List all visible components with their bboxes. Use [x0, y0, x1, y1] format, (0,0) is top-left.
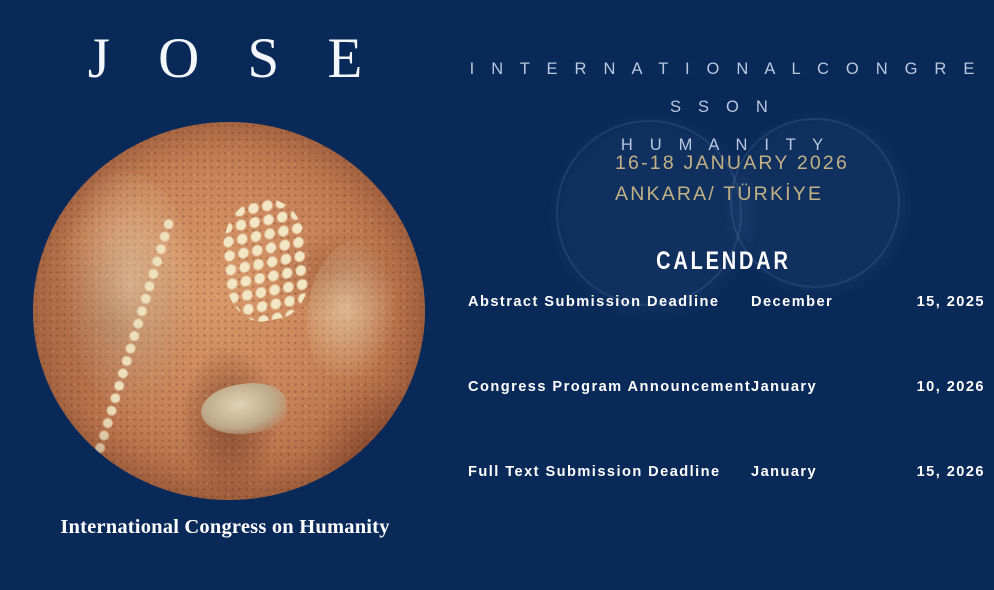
congress-title: I N T E R N A T I O N A L C O N G R E S …: [450, 50, 994, 164]
brand-wordmark: J O S E: [0, 30, 450, 87]
event-datetime: 16-18 JANUARY 2026 ANKARA/ TÜRKİYE: [615, 148, 994, 210]
congress-title-line1: I N T E R N A T I O N A L C O N G R E S …: [470, 60, 981, 116]
congress-poster: J O S E International Congress on Humani…: [0, 0, 994, 590]
calendar-event-label: Full Text Submission Deadline: [468, 458, 768, 487]
calendar-day-year-value: 15, 2026: [825, 458, 985, 487]
emblem-caption: International Congress on Humanity: [0, 516, 450, 539]
calendar-event-label: Congress Program Announcement: [468, 373, 768, 402]
table-row: Abstract Submission Deadline December 15…: [468, 288, 988, 373]
medallion-vignette: [33, 122, 425, 500]
event-location: ANKARA/ TÜRKİYE: [615, 179, 994, 210]
ottoman-relief-medallion-photo: [33, 122, 425, 500]
calendar-heading: CALENDAR: [504, 247, 939, 276]
right-column: I N T E R N A T I O N A L C O N G R E S …: [450, 0, 994, 590]
table-row: Full Text Submission Deadline January 15…: [468, 458, 988, 543]
calendar-day-year-value: 10, 2026: [825, 373, 985, 402]
calendar-day-year-value: 15, 2025: [825, 288, 985, 317]
calendar-table: Abstract Submission Deadline December 15…: [468, 288, 988, 543]
left-column: J O S E International Congress on Humani…: [0, 0, 450, 590]
table-row: Congress Program Announcement January 10…: [468, 373, 988, 458]
calendar-event-label: Abstract Submission Deadline: [468, 288, 768, 317]
event-date: 16-18 JANUARY 2026: [615, 148, 994, 179]
